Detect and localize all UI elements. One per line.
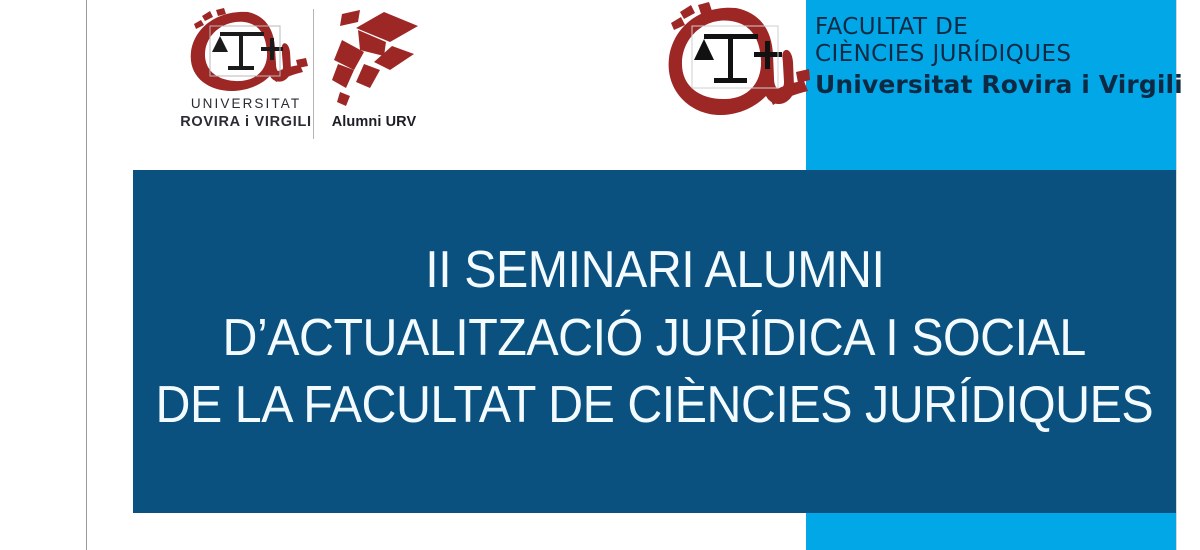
seminar-title-line3: DE LA FACULTAT DE CIÈNCIES JURÍDIQUES — [156, 372, 1154, 440]
poster-canvas: UNIVERSITAT ROVIRA i VIRGILI — [0, 0, 1200, 550]
faculty-wordmark-line2: CIÈNCIES JURÍDIQUES — [815, 41, 1173, 68]
urv-wordmark-line2: ROVIRA i VIRGILI — [176, 113, 316, 131]
seminar-title-line2: D’ACTUALITZACIÓ JURÍDICA I SOCIAL — [223, 305, 1086, 373]
header-logo-row: UNIVERSITAT ROVIRA i VIRGILI — [0, 0, 1200, 170]
faculty-wordmark-line1: FACULTAT DE — [815, 14, 1173, 41]
urv-at-sign-icon — [660, 2, 810, 120]
urv-at-sign-icon — [184, 8, 309, 94]
seminar-title-banner: II SEMINARI ALUMNI D’ACTUALITZACIÓ JURÍD… — [133, 170, 1176, 513]
universitat-rovira-virgili-logo: UNIVERSITAT ROVIRA i VIRGILI — [176, 6, 316, 138]
urv-wordmark: UNIVERSITAT ROVIRA i VIRGILI — [176, 96, 316, 131]
urv-alumni-logo-lockup: UNIVERSITAT ROVIRA i VIRGILI — [176, 6, 421, 138]
cyan-accent-band-bottom — [806, 513, 1176, 550]
facultat-ciencies-juridiques-logo: FACULTAT DE CIÈNCIES JURÍDIQUES Universi… — [660, 0, 1176, 170]
faculty-wordmark: FACULTAT DE CIÈNCIES JURÍDIQUES Universi… — [815, 14, 1173, 101]
urv-wordmark-line1: UNIVERSITAT — [176, 96, 316, 113]
faculty-wordmark-line3: Universitat Rovira i Virgili — [815, 69, 1173, 100]
alumni-urv-logo: Alumni URV — [326, 6, 422, 138]
graduation-cap-icon — [328, 8, 420, 112]
logo-divider-line — [313, 9, 314, 139]
seminar-title-line1: II SEMINARI ALUMNI — [425, 237, 884, 305]
alumni-urv-label: Alumni URV — [326, 114, 422, 130]
